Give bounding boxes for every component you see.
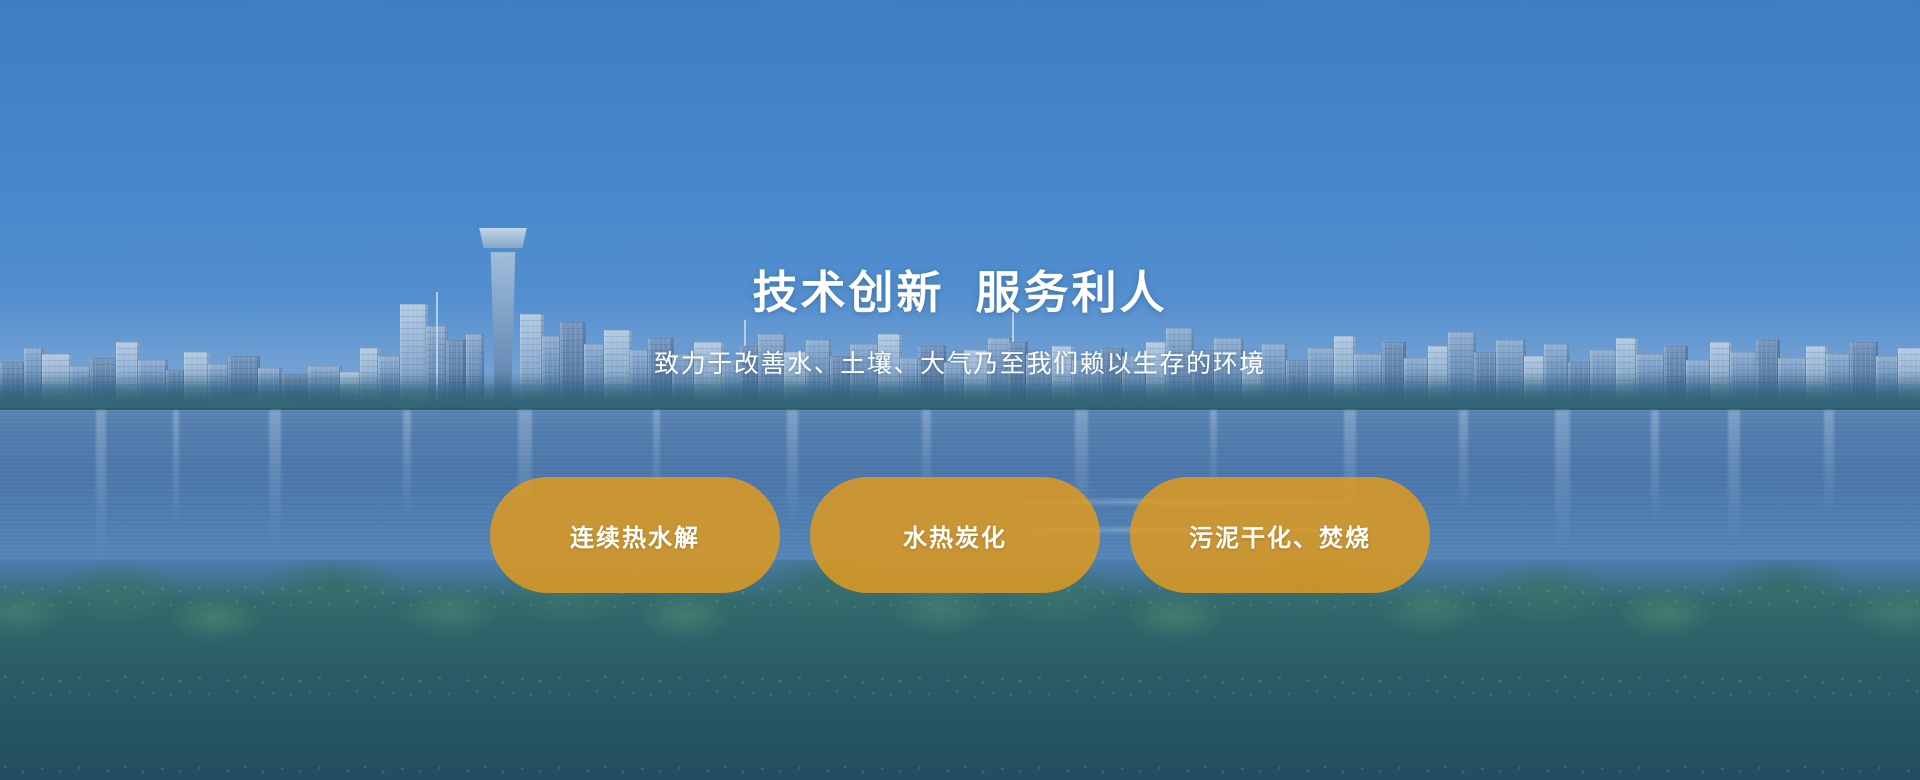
hero-banner: 技术创新 服务利人 致力于改善水、土壤、大气乃至我们赖以生存的环境 连续热水解 …	[0, 0, 1920, 780]
category-button-sludge-drying-incineration[interactable]: 污泥干化、焚烧	[1130, 477, 1430, 593]
category-button-continuous-thermal-hydrolysis[interactable]: 连续热水解	[490, 477, 780, 593]
hero-content: 技术创新 服务利人 致力于改善水、土壤、大气乃至我们赖以生存的环境 连续热水解 …	[0, 0, 1920, 780]
category-button-hydrothermal-carbonization[interactable]: 水热炭化	[810, 477, 1100, 593]
category-button-row: 连续热水解 水热炭化 污泥干化、焚烧	[0, 477, 1920, 593]
hero-subtitle: 致力于改善水、土壤、大气乃至我们赖以生存的环境	[0, 347, 1920, 382]
page-title: 技术创新 服务利人	[0, 266, 1920, 319]
